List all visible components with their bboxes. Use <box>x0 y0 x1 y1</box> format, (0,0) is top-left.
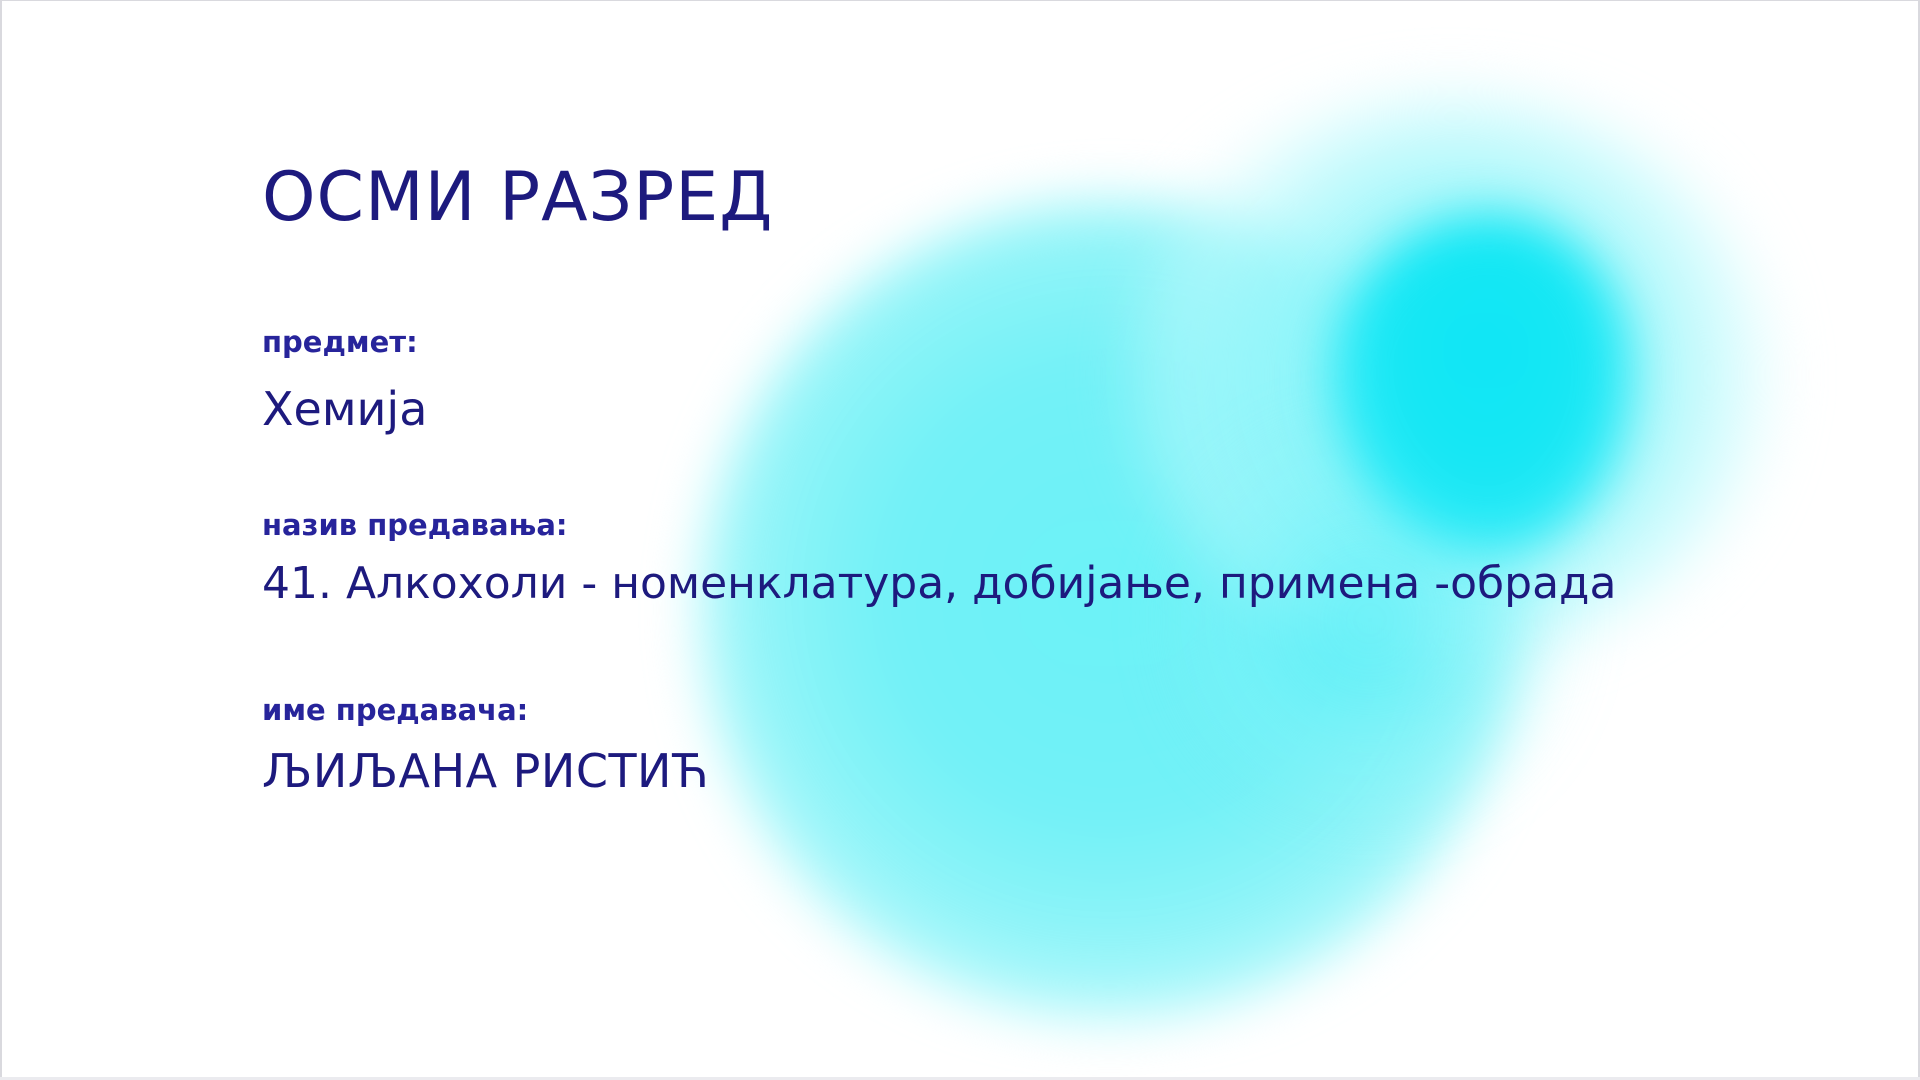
slide-content: ОСМИ РАЗРЕД предмет: Хемија назив предав… <box>262 0 1762 1080</box>
page-title: ОСМИ РАЗРЕД <box>262 158 773 237</box>
teacher-name-value: ЉИЉАНА РИСТИЋ <box>262 744 709 798</box>
subject-value: Хемија <box>262 382 427 436</box>
lecture-title-label: назив предавања: <box>262 508 568 542</box>
title-slide: ОСМИ РАЗРЕД предмет: Хемија назив предав… <box>0 0 1920 1080</box>
lecture-title-value: 41. Алкохоли - номенклатура, добијање, п… <box>262 558 1616 609</box>
frame-edge-left <box>0 0 2 1080</box>
subject-label: предмет: <box>262 325 418 359</box>
teacher-name-label: име предавача: <box>262 693 528 727</box>
